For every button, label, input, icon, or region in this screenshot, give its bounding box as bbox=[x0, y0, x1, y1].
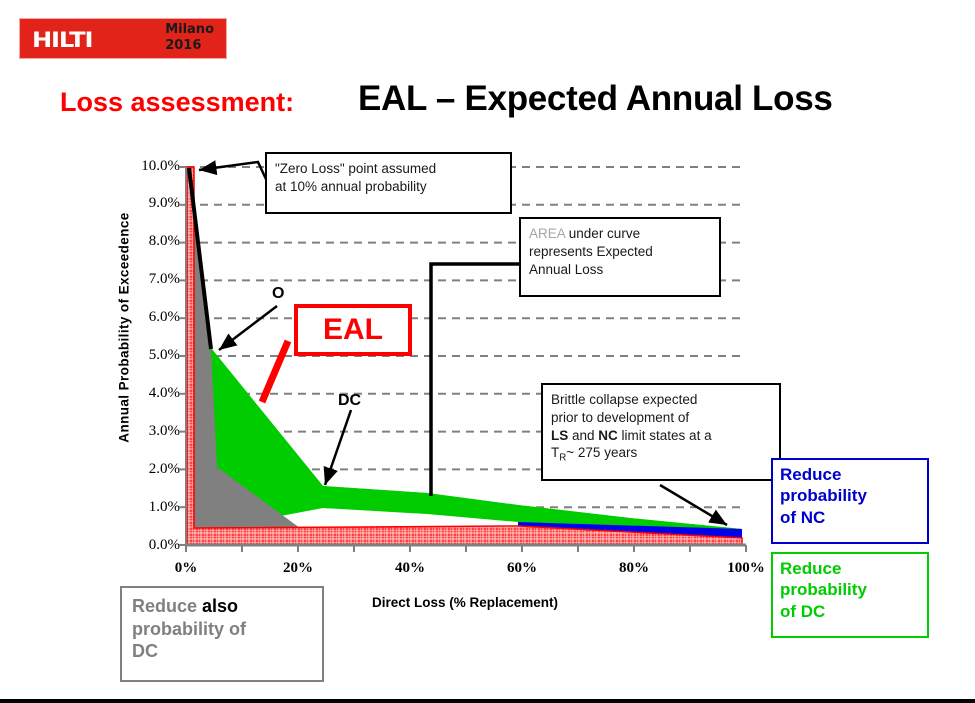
event-badge: Milano 2016 bbox=[165, 22, 214, 54]
legend-dc-line2: probability bbox=[780, 579, 920, 600]
hilti-wordmark: HILTI bbox=[32, 28, 92, 52]
callout-area-line2: represents Expected bbox=[529, 243, 711, 261]
event-city: Milano bbox=[165, 22, 214, 38]
legend-reduce-probability-dc: Reduce probability of DC bbox=[771, 552, 929, 638]
brittle-leader bbox=[660, 485, 727, 525]
limit-state-ls: LS bbox=[551, 428, 568, 443]
legend-gray-line3: DC bbox=[132, 640, 312, 663]
hilti-logo: HILTI Milano 2016 bbox=[20, 19, 226, 58]
callout-brittle-collapse: Brittle collapse expected prior to devel… bbox=[541, 383, 781, 481]
legend-nc-line1: Reduce bbox=[780, 464, 920, 485]
legend-gray-line1: Reduce also bbox=[132, 595, 312, 618]
callout-area-word: AREA bbox=[529, 226, 565, 241]
return-period-value: ~ 275 years bbox=[566, 445, 637, 460]
callout-area-rest: under curve bbox=[565, 226, 640, 241]
annotation-dc: DC bbox=[338, 392, 361, 410]
dc-leader bbox=[325, 410, 351, 485]
callout-brittle-and: and bbox=[568, 428, 598, 443]
eal-callout-box: EAL bbox=[294, 304, 412, 356]
callout-zero-loss-line1: "Zero Loss" point assumed bbox=[275, 160, 502, 178]
callout-zero-loss-line2: at 10% annual probability bbox=[275, 178, 502, 196]
annotation-o: O bbox=[272, 285, 284, 303]
callout-brittle-line1: Brittle collapse expected bbox=[551, 391, 771, 409]
callout-brittle-line3-tail: limit states at a bbox=[618, 428, 712, 443]
legend-reduce-also-probability-dc: Reduce also probability of DC bbox=[120, 586, 324, 682]
callout-area-line1: AREA under curve bbox=[529, 225, 711, 243]
slide-title-row: Loss assessment: EAL – Expected Annual L… bbox=[0, 83, 975, 127]
legend-dc-line1: Reduce bbox=[780, 558, 920, 579]
callout-area-line3: Annual Loss bbox=[529, 261, 711, 279]
callout-brittle-line4: TR~ 275 years bbox=[551, 444, 771, 466]
callout-area: AREA under curve represents Expected Ann… bbox=[519, 217, 721, 297]
limit-state-nc: NC bbox=[598, 428, 618, 443]
legend-gray-bold: also bbox=[202, 596, 238, 616]
legend-gray-line2: probability of bbox=[132, 618, 312, 641]
legend-nc-line2: probability bbox=[780, 485, 920, 506]
page-title: EAL – Expected Annual Loss bbox=[358, 79, 833, 119]
title-prefix: Loss assessment: bbox=[60, 87, 294, 118]
callout-brittle-line2: prior to development of bbox=[551, 409, 771, 427]
slide-canvas: HILTI Milano 2016 Loss assessment: EAL –… bbox=[0, 0, 975, 703]
legend-gray-pre: Reduce bbox=[132, 596, 202, 616]
legend-nc-line3: of NC bbox=[780, 507, 920, 528]
legend-reduce-probability-nc: Reduce probability of NC bbox=[771, 458, 929, 544]
eal-label: EAL bbox=[323, 313, 383, 346]
callout-zero-loss: "Zero Loss" point assumed at 10% annual … bbox=[265, 152, 512, 214]
legend-dc-line3: of DC bbox=[780, 601, 920, 622]
return-period-symbol: T bbox=[551, 445, 559, 460]
area-leader bbox=[431, 264, 520, 496]
callout-brittle-line3: LS and NC limit states at a bbox=[551, 427, 771, 445]
y-axis-ticks bbox=[179, 167, 186, 545]
event-year: 2016 bbox=[165, 38, 214, 54]
o-leader bbox=[219, 306, 277, 350]
